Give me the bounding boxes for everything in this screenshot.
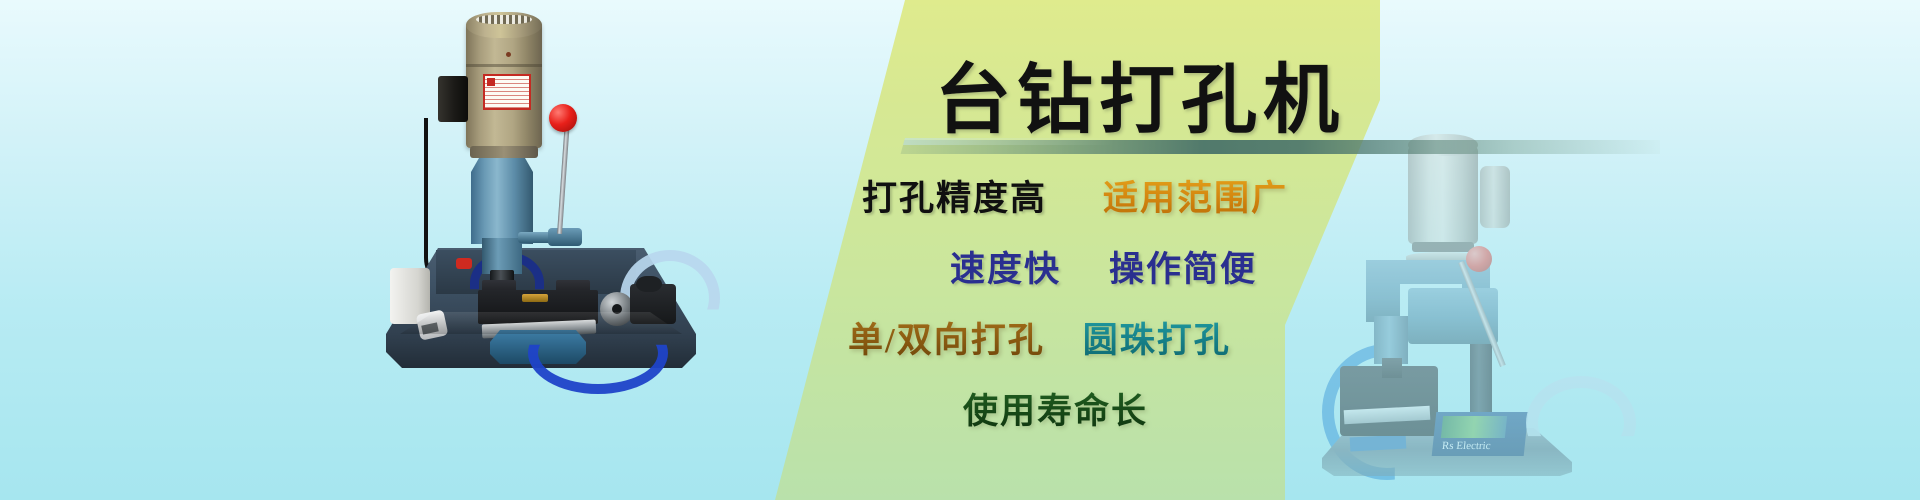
right-blue-strip [1350,435,1407,452]
red-clip-icon [456,258,472,269]
feature-item-easy-operation: 操作简便 [1109,241,1257,292]
motor-spec-label [483,74,531,110]
motor-band [466,64,542,67]
right-motor-top-cap [1408,134,1478,156]
feature-list: 打孔精度高 适用范围广 速度快 操作简便 单/双向打孔 圆珠打孔 使用寿命长 [820,170,1440,434]
feature-item-long-lifespan: 使用寿命长 [963,383,1148,434]
base-top-surface [400,312,682,334]
lever-hub [548,228,582,246]
feature-item-bead-drilling: 圆珠打孔 [1083,312,1231,363]
motor-mount [470,146,538,158]
feature-item-single-double-drilling: 单/双向打孔 [848,312,1045,363]
right-product-box-label: Rs Electric [1441,440,1522,452]
feature-item-precision: 打孔精度高 [862,170,1047,221]
coolant-pump-cap [636,276,662,292]
right-product-box-art [1441,416,1507,438]
motor-label-logo [487,78,495,86]
feature-row-4: 使用寿命长 [820,383,1440,434]
feature-row-3: 单/双向打孔 圆珠打孔 [820,312,1440,363]
motor-vents [476,15,532,24]
feature-row-2: 速度快 操作简便 [820,241,1440,292]
product-image-left [378,12,708,380]
feed-lever-rod [557,120,570,234]
right-capacitor [1480,166,1510,228]
right-feed-lever-knob [1466,246,1492,272]
motor-screw [506,52,511,57]
feature-item-speed: 速度快 [950,241,1061,292]
junction-box [438,76,468,122]
feature-row-1: 打孔精度高 适用范围广 [820,170,1440,221]
drill-quill [482,238,522,274]
feature-item-application-range: 适用范围广 [1103,170,1288,221]
brass-workpiece [522,294,548,302]
product-banner: Rs Electric 台钻打孔机 打孔精度高 适用范围广 速度快 操作简便 单… [0,0,1920,500]
page-title: 台钻打孔机 [935,38,1345,148]
feed-lever-knob [549,104,577,132]
